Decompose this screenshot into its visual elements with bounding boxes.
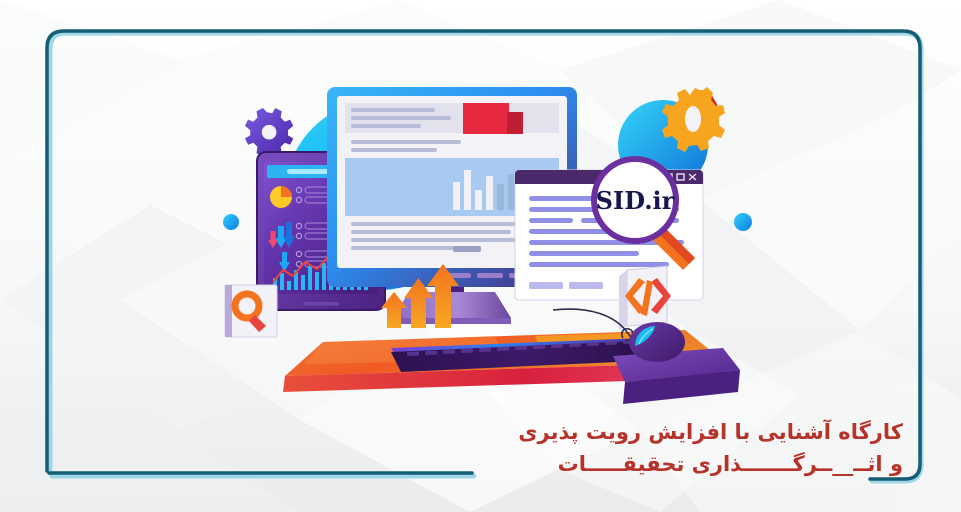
red-highlight-block bbox=[463, 103, 509, 134]
code-bracket-icon bbox=[619, 266, 671, 330]
magnifier-brand-label: SID.ir bbox=[596, 186, 675, 215]
headline-line-2: و اثــ__ــرگـــــــذاری تحقیقـــــات bbox=[343, 450, 903, 480]
purple-gear-icon bbox=[245, 108, 293, 156]
dot-right bbox=[734, 213, 752, 231]
headline: کارگاه آشنایی با افزایش رویت پذیری و اثـ… bbox=[343, 418, 903, 480]
poster-canvas: SID.ir bbox=[0, 0, 961, 512]
headline-line-1: کارگاه آشنایی با افزایش رویت پذیری bbox=[343, 418, 903, 448]
dot-left bbox=[223, 214, 239, 230]
pie-chart-widget bbox=[270, 186, 292, 208]
hero-illustration: SID.ir bbox=[195, 70, 775, 400]
search-card-icon bbox=[225, 285, 277, 337]
